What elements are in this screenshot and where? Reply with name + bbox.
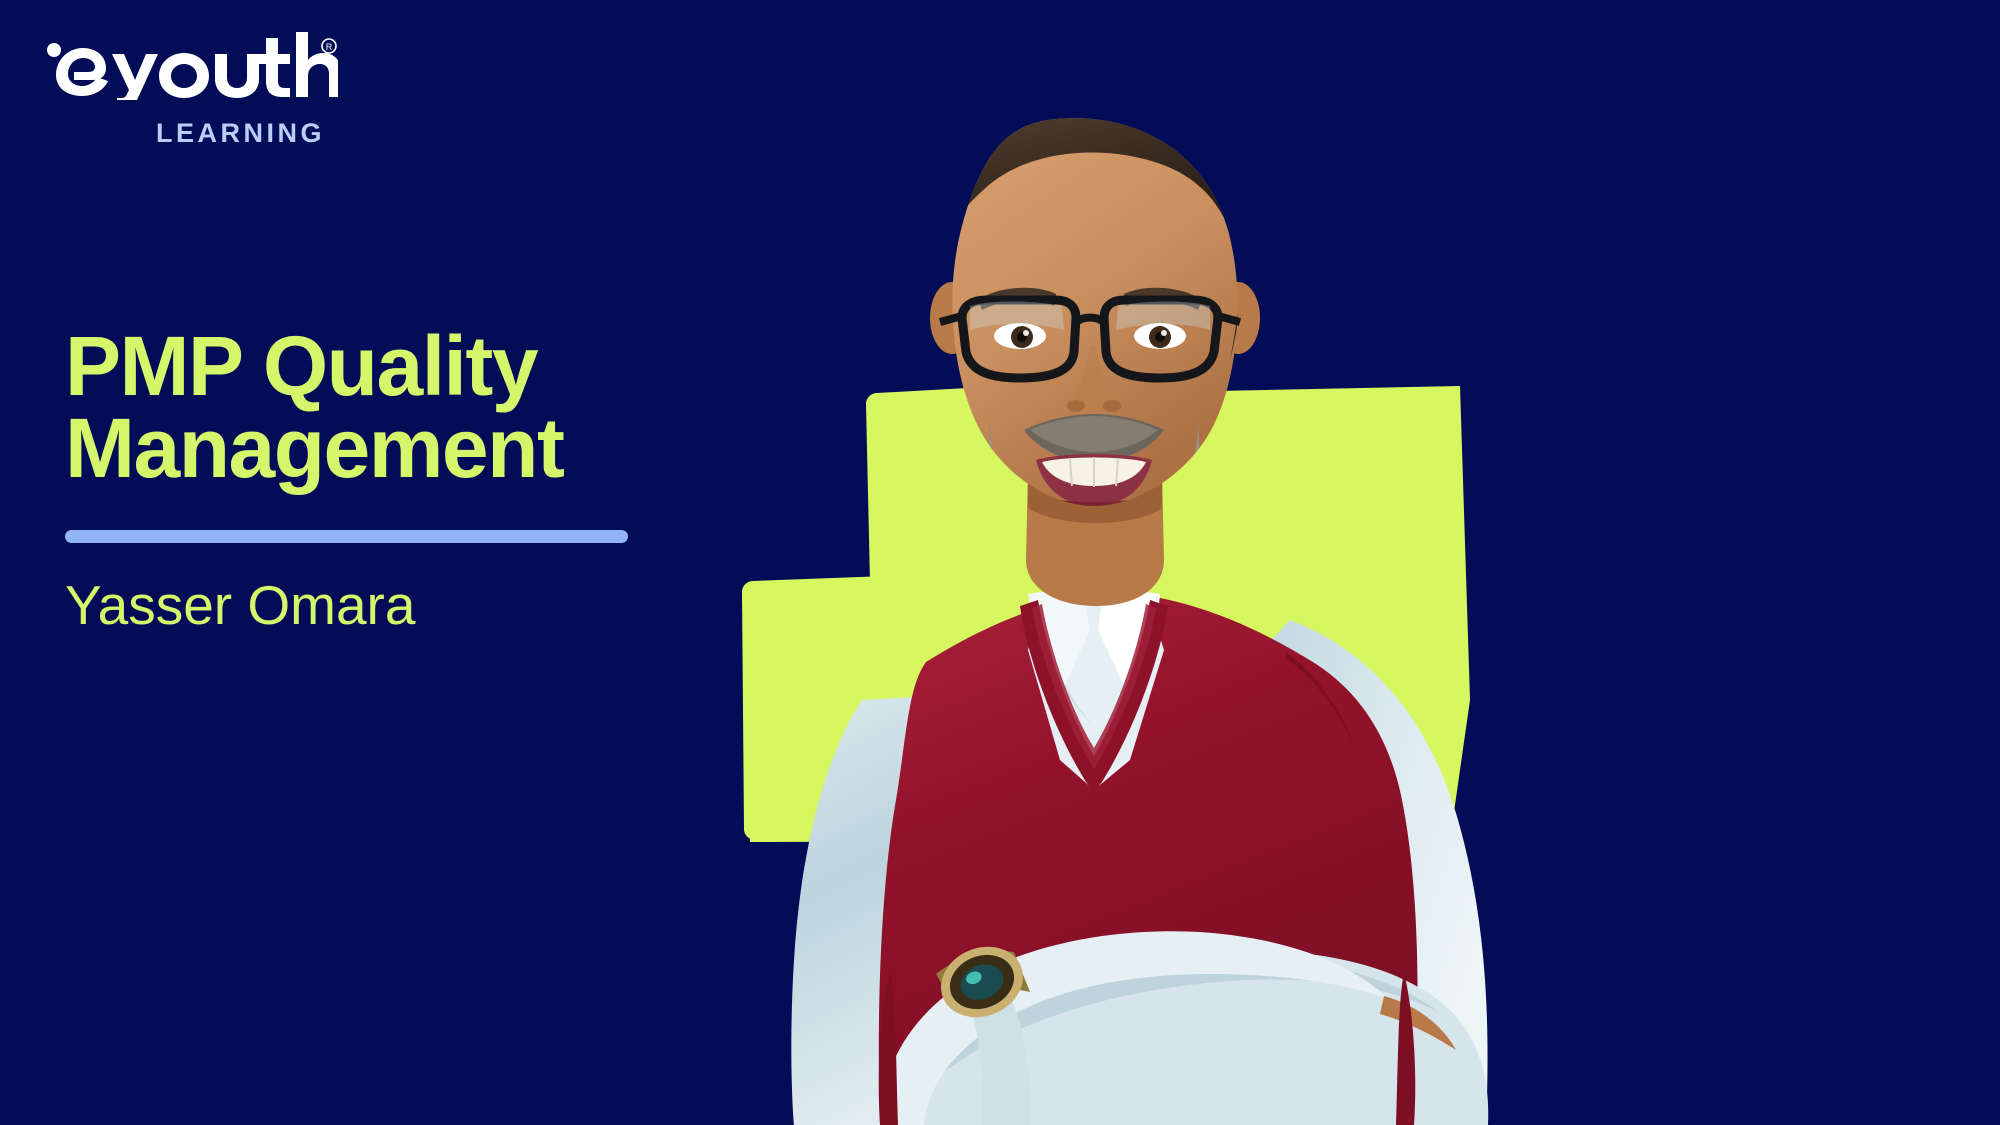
- slide-canvas: R LEARNING PMP Quality Management Yasser…: [0, 0, 2000, 1125]
- title-divider: [65, 530, 628, 543]
- svg-text:R: R: [326, 42, 333, 52]
- slide-text-block: PMP Quality Management Yasser Omara: [65, 325, 715, 635]
- page-title: PMP Quality Management: [65, 325, 715, 490]
- presenter-name: Yasser Omara: [65, 575, 715, 636]
- presenter-portrait: [690, 0, 2000, 1125]
- eyouth-logo-icon: R: [38, 30, 338, 100]
- logo-tagline: LEARNING: [156, 120, 325, 147]
- presenter-artwork: [690, 0, 2000, 1125]
- brand-logo[interactable]: R LEARNING: [38, 30, 338, 140]
